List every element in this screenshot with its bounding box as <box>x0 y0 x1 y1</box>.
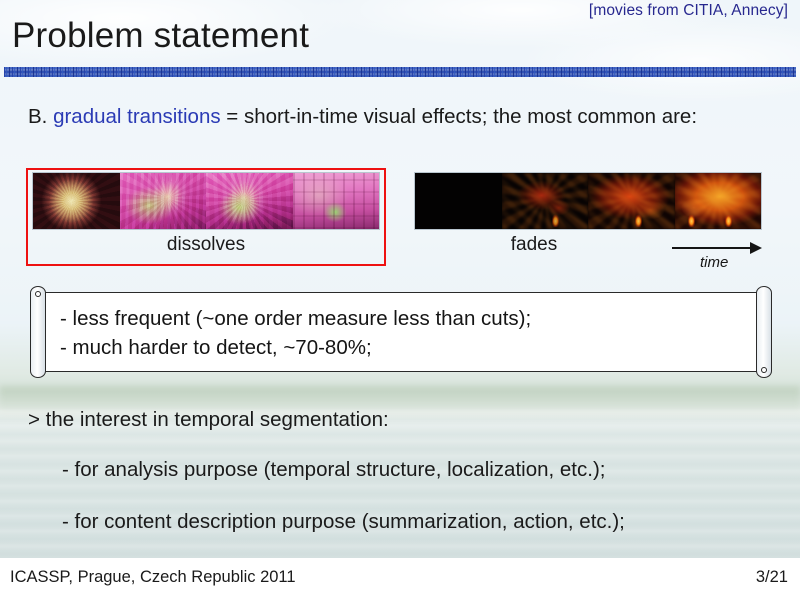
arrow-head <box>750 242 762 254</box>
fades-filmstrip <box>414 172 762 230</box>
presentation-slide: [movies from CITIA, Annecy] Problem stat… <box>0 0 800 598</box>
callout-line-1: - less frequent (~one order measure less… <box>60 304 750 333</box>
figure-row: dissolves fades time <box>0 160 800 275</box>
outline-heading: > the interest in temporal segmentation: <box>28 408 758 432</box>
fade-frame-4 <box>675 173 762 229</box>
fades-caption: fades <box>414 234 654 256</box>
dissolve-frame-4 <box>293 173 380 229</box>
dissolves-caption: dissolves <box>32 234 380 256</box>
torch-glow-icon <box>635 214 642 227</box>
scroll-knot-icon <box>761 367 767 373</box>
torch-glow-icon <box>725 214 732 227</box>
slide-footer: ICASSP, Prague, Czech Republic 2011 3/21 <box>0 558 800 598</box>
dissolve-frame-3 <box>206 173 293 229</box>
dissolve-frame-2 <box>120 173 207 229</box>
fade-frame-2 <box>502 173 589 229</box>
footer-conference: ICASSP, Prague, Czech Republic 2011 <box>10 568 296 587</box>
footer-page-number: 3/21 <box>756 568 788 587</box>
dissolve-frame-1 <box>33 173 120 229</box>
outline-point-2: - for content description purpose (summa… <box>28 510 758 534</box>
source-credit: [movies from CITIA, Annecy] <box>589 2 788 20</box>
bullet-b-keyword: gradual transitions <box>53 105 221 128</box>
dissolves-filmstrip <box>32 172 380 230</box>
time-axis-label: time <box>700 254 728 271</box>
fade-frame-1 <box>415 173 502 229</box>
outline-block: > the interest in temporal segmentation:… <box>28 408 758 534</box>
bullet-b-prefix: B. <box>28 105 53 128</box>
callout-line-2: - much harder to detect, ~70-80%; <box>60 333 750 362</box>
fade-frame-3 <box>588 173 675 229</box>
bullet-b-rest: = short-in-time visual effects; the most… <box>221 105 697 128</box>
time-arrow-icon <box>672 242 762 254</box>
callout-scroll: - less frequent (~one order measure less… <box>28 292 772 374</box>
bullet-b-paragraph: B. gradual transitions = short-in-time v… <box>28 102 728 131</box>
page-title: Problem statement <box>12 16 309 56</box>
torch-glow-icon <box>552 214 559 227</box>
scroll-knot-icon <box>35 291 41 297</box>
arrow-shaft <box>672 247 752 249</box>
scroll-roll-left <box>30 286 46 378</box>
torch-glow-icon <box>688 214 695 227</box>
callout-text: - less frequent (~one order measure less… <box>60 304 750 362</box>
title-divider <box>4 67 796 77</box>
scroll-roll-right <box>756 286 772 378</box>
outline-point-1: - for analysis purpose (temporal structu… <box>28 458 758 482</box>
